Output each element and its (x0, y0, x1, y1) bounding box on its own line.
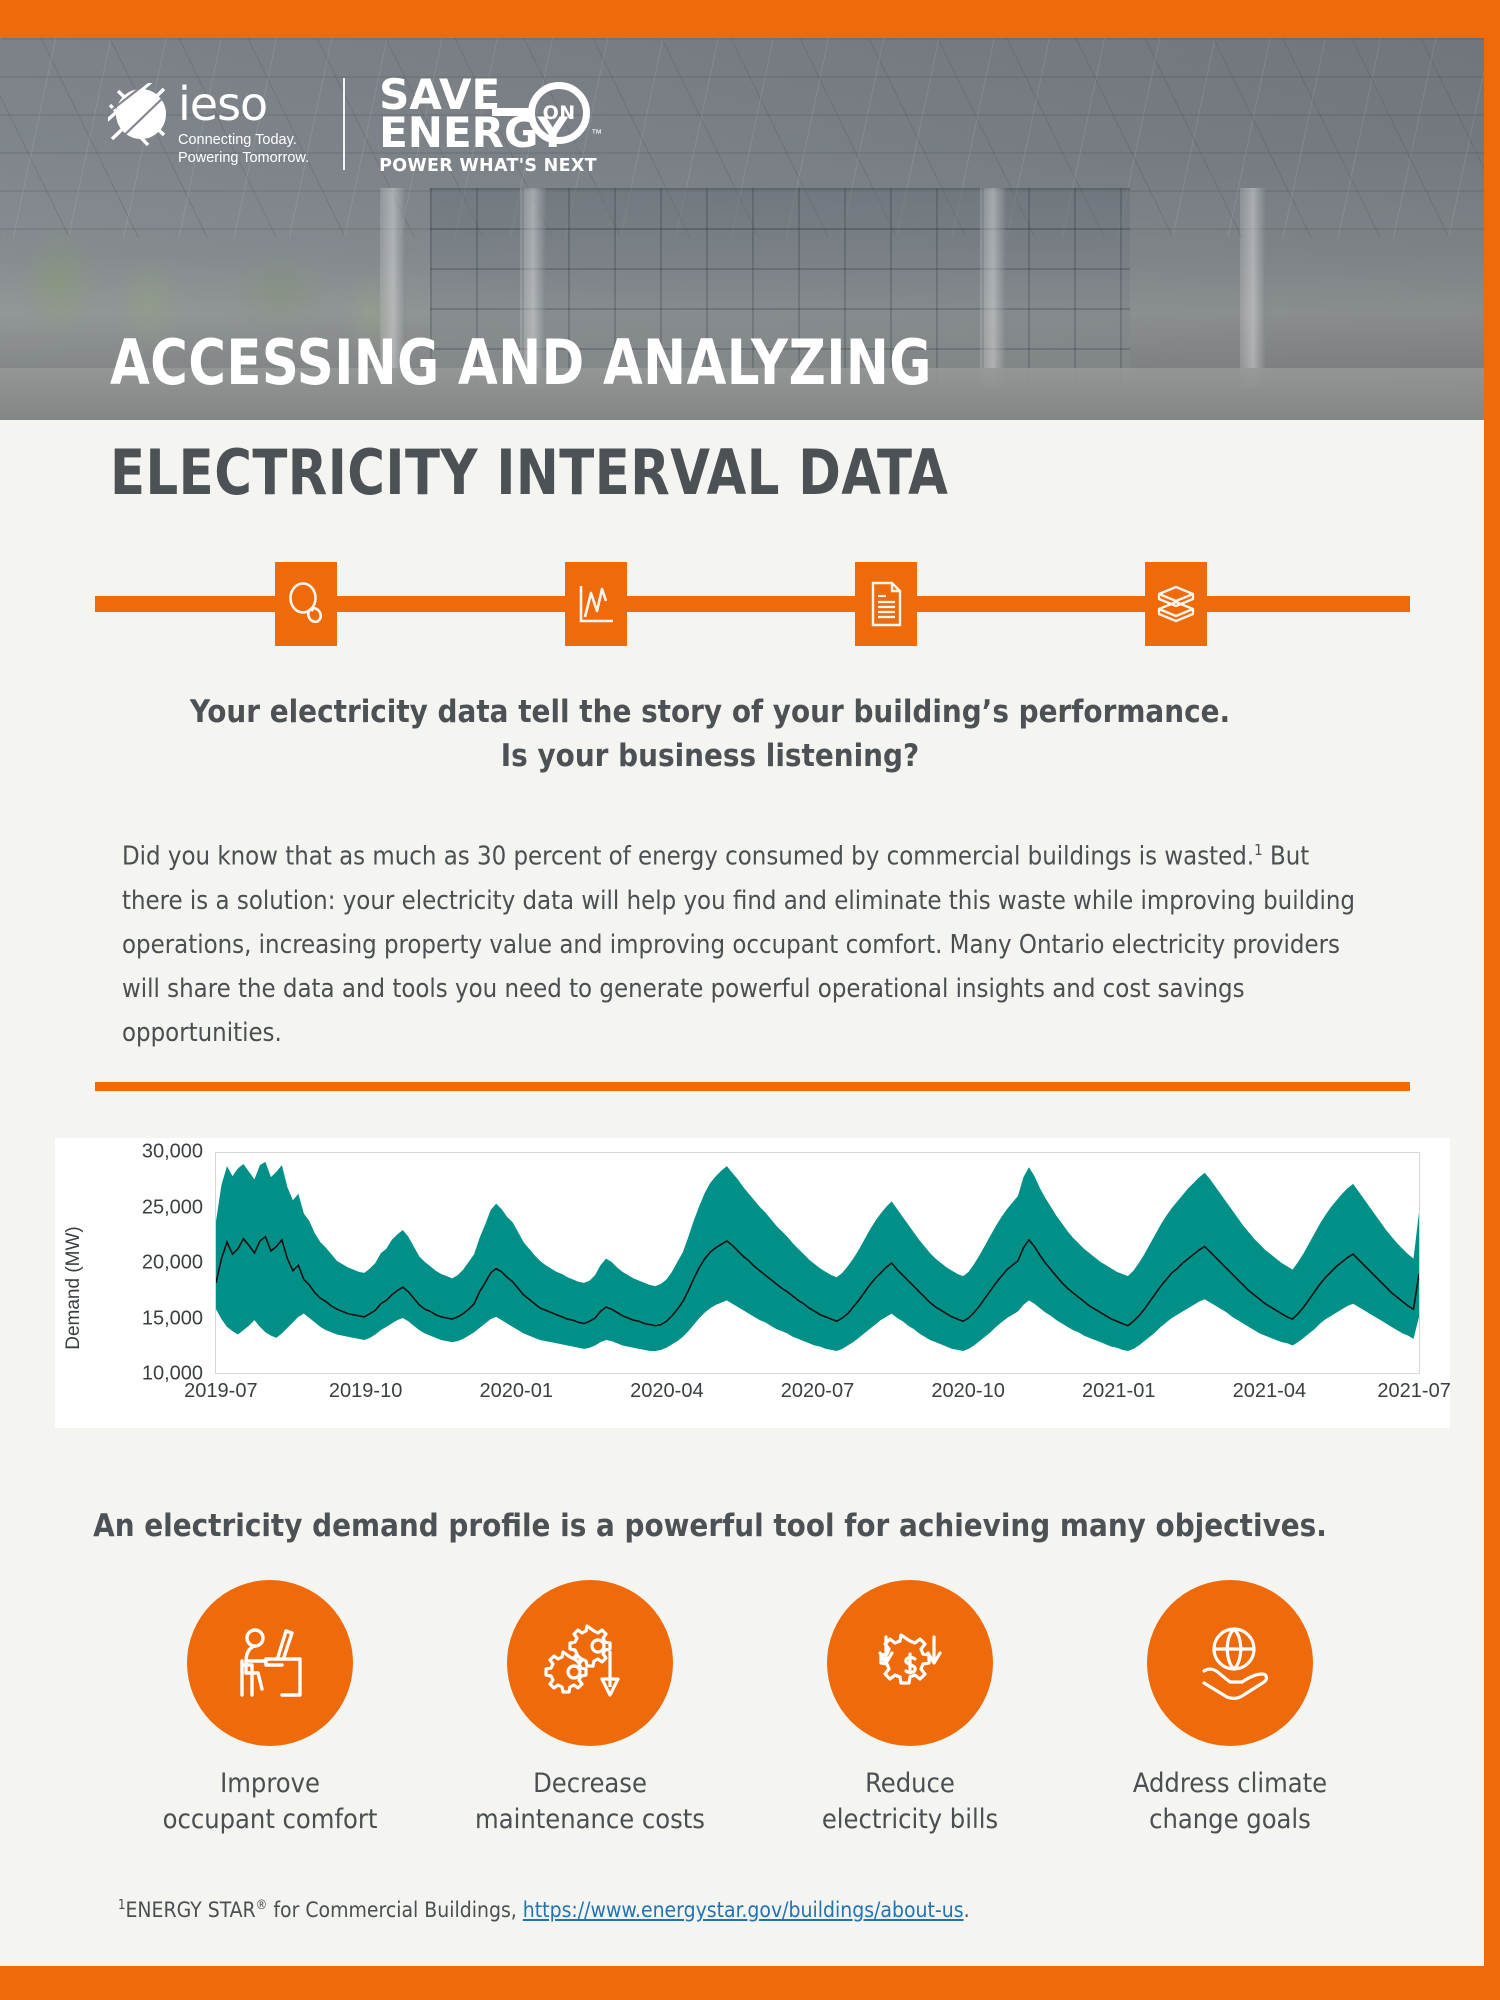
objectives-headline: An electricity demand profile is a power… (0, 1508, 1420, 1544)
chart-plot-area (215, 1152, 1420, 1374)
objective-label-line1: Address climate (1133, 1766, 1327, 1802)
bottom-orange-bar (0, 1966, 1500, 2000)
headline-line2: Is your business listening? (0, 734, 1420, 778)
globe-in-hand-icon (1147, 1580, 1313, 1746)
objective-label: Decrease maintenance costs (475, 1766, 705, 1838)
ieso-tagline-line1: Connecting Today. (178, 131, 309, 149)
top-orange-bar (0, 0, 1500, 38)
page-title-line1: ACCESSING AND ANALYZING (110, 330, 932, 396)
chart-y-axis-ticks: 30,00025,00020,00015,00010,000 (93, 1152, 211, 1374)
chart-x-tick: 2020-01 (480, 1380, 553, 1403)
demand-chart: Demand (MW) 30,00025,00020,00015,00010,0… (55, 1138, 1450, 1428)
logo-divider (343, 78, 345, 170)
document-icon (855, 562, 917, 646)
ieso-name: ieso (178, 81, 309, 127)
logo-row: ieso Connecting Today. Powering Tomorrow… (108, 72, 597, 176)
chart-x-tick: 2019-10 (329, 1380, 402, 1403)
chart-x-tick: 2021-04 (1233, 1380, 1306, 1403)
objective-label-line1: Improve (163, 1766, 378, 1802)
body-part2: But there is a solution: your electricit… (122, 842, 1355, 1048)
chart-x-axis-ticks: 2019-072019-102020-012020-042020-072020-… (215, 1380, 1420, 1414)
objective-label: Improve occupant comfort (163, 1766, 378, 1838)
chart-x-tick: 2021-07 (1377, 1380, 1450, 1403)
books-icon (1145, 562, 1207, 646)
ieso-mark-icon (108, 83, 174, 149)
line-chart-icon (565, 562, 627, 646)
chart-x-tick: 2020-07 (781, 1380, 854, 1403)
chart-y-tick: 30,000 (142, 1141, 203, 1164)
energystar-link[interactable]: https://www.energystar.gov/buildings/abo… (523, 1898, 964, 1922)
objective-item: Address climate change goals (1080, 1580, 1380, 1838)
objective-label: Address climate change goals (1133, 1766, 1327, 1838)
chart-x-tick: 2020-10 (931, 1380, 1004, 1403)
right-orange-bar (1484, 0, 1500, 2000)
dollar-gear-down-arrows-icon (827, 1580, 993, 1746)
ieso-logo: ieso Connecting Today. Powering Tomorrow… (108, 81, 309, 167)
body-paragraph: Did you know that as much as 30 percent … (122, 828, 1372, 1055)
chart-y-tick: 20,000 (142, 1252, 203, 1275)
soe-on-badge: ON (528, 82, 590, 144)
objectives-row: Improve occupant comfort Decrease mainte… (120, 1580, 1380, 1838)
objective-item: Improve occupant comfort (120, 1580, 420, 1838)
objective-item: Reduce electricity bills (760, 1580, 1060, 1838)
headline-line1: Your electricity data tell the story of … (190, 694, 1230, 730)
objective-item: Decrease maintenance costs (440, 1580, 740, 1838)
magnifier-icon (275, 562, 337, 646)
orange-divider-rule (95, 1082, 1410, 1091)
objective-label-line2: change goals (1133, 1802, 1327, 1838)
objective-label-line1: Reduce (822, 1766, 998, 1802)
footnote-text-after: . (964, 1898, 970, 1922)
chart-x-tick: 2021-01 (1082, 1380, 1155, 1403)
section-headline: Your electricity data tell the story of … (0, 690, 1420, 778)
body-part1: Did you know that as much as 30 percent … (122, 842, 1254, 872)
ieso-tagline-line2: Powering Tomorrow. (178, 149, 309, 167)
chart-range-band (216, 1162, 1419, 1351)
footnote-marker: 1 (1254, 841, 1263, 859)
objective-label-line2: occupant comfort (163, 1802, 378, 1838)
chart-y-tick: 25,000 (142, 1196, 203, 1219)
footnote-text-middle: for Commercial Buildings, (267, 1898, 522, 1922)
chart-x-tick: 2019-07 (184, 1380, 257, 1403)
registered-mark: ® (256, 1898, 268, 1913)
objective-label-line1: Decrease (475, 1766, 705, 1802)
chart-svg (216, 1153, 1419, 1373)
icon-strip (95, 562, 1410, 646)
person-at-desk-icon (187, 1580, 353, 1746)
footnote-text-before: ENERGY STAR (125, 1898, 255, 1922)
soe-trademark: ™ (591, 128, 602, 140)
page-title-line2: ELECTRICITY INTERVAL DATA (110, 440, 948, 506)
chart-y-tick: 15,000 (142, 1307, 203, 1330)
soe-tagline: POWER WHAT'S NEXT (379, 156, 597, 176)
footnote: 1ENERGY STAR® for Commercial Buildings, … (118, 1898, 970, 1922)
chart-x-tick: 2020-04 (630, 1380, 703, 1403)
objective-label-line2: electricity bills (822, 1802, 998, 1838)
chart-y-axis-label: Demand (MW) (63, 1226, 85, 1350)
save-on-energy-logo: SAVE ENERGY ON ™ POWER WHAT'S NEXT (379, 72, 597, 176)
objective-label-line2: maintenance costs (475, 1802, 705, 1838)
gears-down-arrow-icon (507, 1580, 673, 1746)
objective-label: Reduce electricity bills (822, 1766, 998, 1838)
